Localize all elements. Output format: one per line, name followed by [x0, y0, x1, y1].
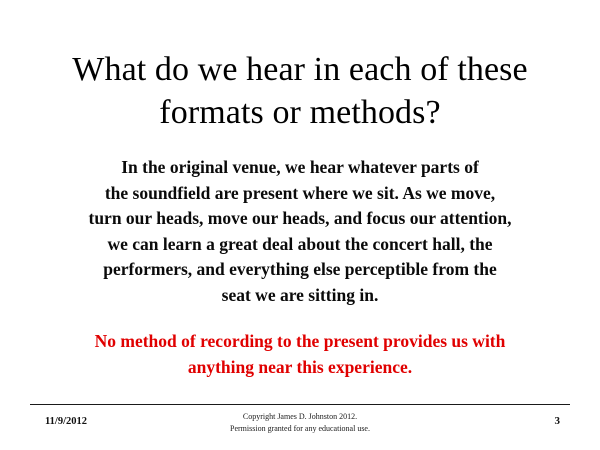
footer-copyright-line-1: Copyright James D. Johnston 2012. — [30, 411, 570, 423]
body-paragraph-line-1: In the original venue, we hear whatever … — [40, 155, 560, 181]
page-title-line-1: What do we hear in each of these — [24, 48, 576, 91]
body-paragraph-line-3: turn our heads, move our heads, and focu… — [40, 206, 560, 232]
footer-page-number: 3 — [555, 415, 561, 427]
page-title-line-2: formats or methods? — [24, 91, 576, 134]
body-paragraph-line-2: the soundfield are present where we sit.… — [40, 181, 560, 207]
page-title: What do we hear in each of these formats… — [24, 48, 576, 134]
footer-copyright: Copyright James D. Johnston 2012. Permis… — [30, 411, 570, 434]
footer: 11/9/2012 Copyright James D. Johnston 20… — [30, 411, 570, 441]
footer-divider — [30, 404, 570, 405]
body-paragraph: In the original venue, we hear whatever … — [40, 155, 560, 308]
body-paragraph-line-5: performers, and everything else percepti… — [40, 257, 560, 283]
emphasis-paragraph: No method of recording to the present pr… — [40, 329, 560, 380]
emphasis-paragraph-line-2: anything near this experience. — [40, 355, 560, 381]
body-paragraph-line-6: seat we are sitting in. — [40, 283, 560, 309]
footer-copyright-line-2: Permission granted for any educational u… — [30, 423, 570, 435]
emphasis-paragraph-line-1: No method of recording to the present pr… — [40, 329, 560, 355]
body-paragraph-line-4: we can learn a great deal about the conc… — [40, 232, 560, 258]
slide: What do we hear in each of these formats… — [0, 0, 600, 450]
